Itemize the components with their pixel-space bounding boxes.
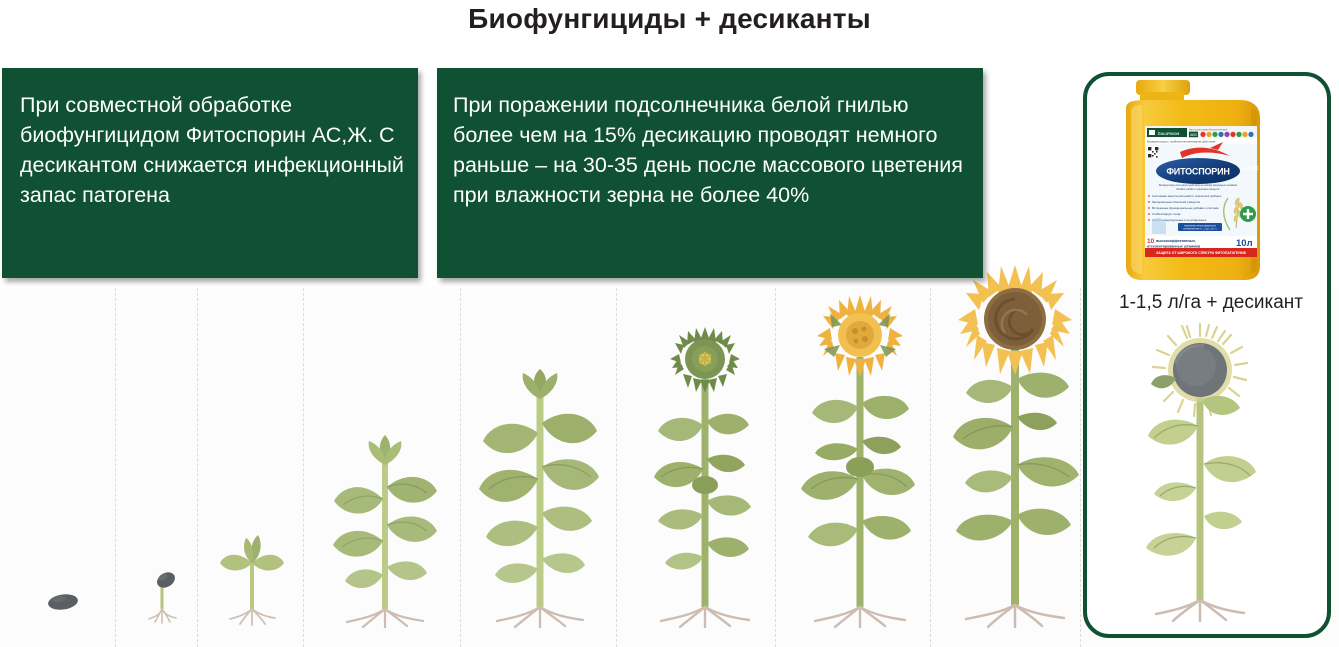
- svg-text:АВЗ: АВЗ: [1190, 133, 1197, 137]
- stage-cotyledon-icon: [213, 511, 291, 627]
- svg-text:ТЕМПЕРАТУРНЫЙ ДИАПАЗОН: ТЕМПЕРАТУРНЫЙ ДИАПАЗОН: [1184, 225, 1217, 228]
- svg-text:Системная защита растений от к: Системная защита растений от комплекса г…: [1152, 194, 1222, 198]
- stage-flowering-icon: [795, 289, 925, 629]
- stage-divider: [775, 288, 776, 647]
- stage-divider: [930, 288, 931, 647]
- svg-text:Bacillus subtilis и гуминовых: Bacillus subtilis и гуминовых веществ: [1177, 188, 1220, 191]
- stage-germination-icon: [140, 553, 186, 625]
- stage-divider: [460, 288, 461, 647]
- product-canister-image: БашИнком Антистрессовая биологическая АВ…: [1118, 78, 1268, 283]
- callout-1-text: При совместной обработке биофунгицидом Ф…: [20, 90, 404, 210]
- stage-divider: [616, 288, 617, 647]
- svg-text:Антистрессовая биологическая: Антистрессовая биологическая: [1189, 128, 1228, 132]
- svg-text:Биофунгицид с тройным механизм: Биофунгицид с тройным механизмом действи…: [1147, 140, 1215, 144]
- stage-desiccation-icon: [1118, 322, 1298, 622]
- slide-root: Биофунгициды + десиканты: [0, 0, 1339, 647]
- svg-text:Встроенные функциональные доб: Встроенные функциональные добавки и сист…: [1152, 206, 1219, 210]
- svg-text:отселектированных штаммов: отселектированных штаммов: [1147, 245, 1201, 249]
- svg-text:ЗАЩИТА ОТ ШИРОКОГО СПЕКТРА ФИТ: ЗАЩИТА ОТ ШИРОКОГО СПЕКТРА ФИТОПАТОГЕНОВ: [1156, 251, 1247, 255]
- svg-text:Стабилизирует почву: Стабилизирует почву: [1152, 212, 1181, 216]
- stage-ripening-icon: [945, 259, 1085, 629]
- stage-seed-icon: [46, 593, 80, 611]
- svg-text:ПРИМЕНЕНИЯ ОТ +5 ДО +35 °С: ПРИМЕНЕНИЯ ОТ +5 ДО +35 °С: [1183, 229, 1217, 231]
- stage-vegetative-late-icon: [475, 369, 605, 629]
- svg-text:10л: 10л: [1236, 238, 1253, 249]
- product-dose-caption: 1-1,5 л/га + десикант: [1096, 290, 1326, 316]
- page-title: Биофунгициды + десиканты: [0, 0, 1339, 38]
- stage-divider: [303, 288, 304, 647]
- stage-divider: [115, 288, 116, 647]
- stage-budding-icon: [645, 319, 765, 629]
- svg-text:бактериальных болезней и вирус: бактериальных болезней и вирусов: [1152, 200, 1200, 204]
- svg-text:Биофунгицид системного действи: Биофунгицид системного действия на основ…: [1159, 184, 1238, 187]
- stage-vegetative-early-icon: [325, 429, 445, 629]
- svg-text:-АС,Ж: -АС,Ж: [1242, 166, 1258, 172]
- svg-text:БашИнком: БашИнком: [1158, 131, 1179, 136]
- svg-text:высокоэффективных,: высокоэффективных,: [1156, 239, 1196, 243]
- stage-divider: [197, 288, 198, 647]
- callout-white-rot-desiccation: При поражении подсолнечника белой гнилью…: [437, 68, 983, 278]
- svg-text:ФИТОСПОРИН: ФИТОСПОРИН: [1166, 167, 1229, 177]
- callout-2-text: При поражении подсолнечника белой гнилью…: [453, 90, 969, 210]
- callout-joint-treatment: При совместной обработке биофунгицидом Ф…: [2, 68, 418, 278]
